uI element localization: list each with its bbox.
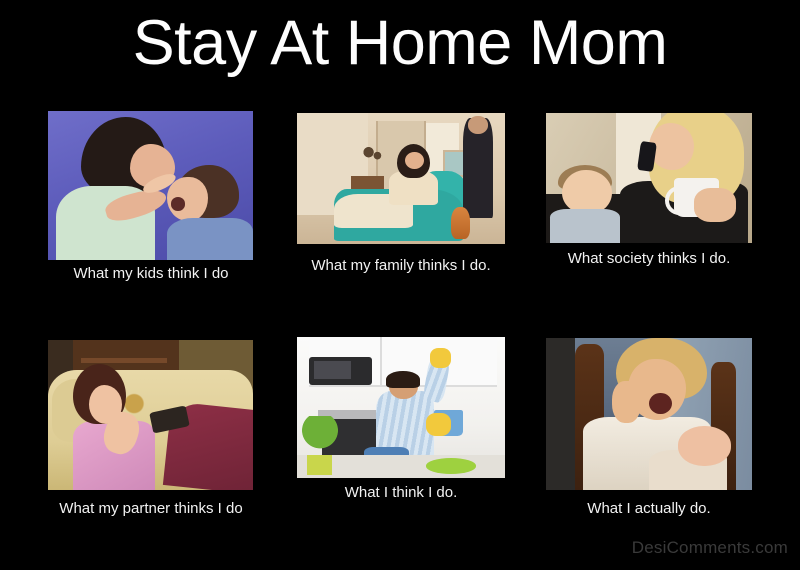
photo-society (546, 113, 752, 243)
caption-family: What my family thinks I do. (311, 257, 490, 275)
panel-kids (48, 111, 253, 260)
panel-family (297, 113, 505, 244)
caption-reality: What I actually do. (587, 500, 710, 518)
meme-title: Stay At Home Mom (0, 6, 800, 80)
panel-partner (48, 340, 253, 490)
caption-society: What society thinks I do. (568, 250, 731, 268)
scene-exhausted-mother-with-baby (546, 338, 752, 490)
photo-kids (48, 111, 253, 260)
watermark: DesiComments.com (632, 538, 788, 558)
scene-mother-scolding-boy (48, 111, 253, 260)
photo-family (297, 113, 505, 244)
scene-cheerful-cleaning-kitchen (297, 337, 505, 478)
panel-ideal (297, 337, 505, 478)
panel-society (546, 113, 752, 243)
panel-reality (546, 338, 752, 490)
caption-partner: What my partner thinks I do (59, 500, 242, 518)
caption-ideal: What I think I do. (345, 484, 458, 502)
photo-partner (48, 340, 253, 490)
photo-ideal (297, 337, 505, 478)
scene-woman-on-floral-couch (48, 340, 253, 490)
caption-kids: What my kids think I do (73, 265, 228, 283)
meme-image: Stay At Home Mom What my kids think I do (0, 0, 800, 570)
photo-reality (546, 338, 752, 490)
scene-woman-lounging-chaise (297, 113, 505, 244)
scene-blonde-on-phone-with-mug (546, 113, 752, 243)
